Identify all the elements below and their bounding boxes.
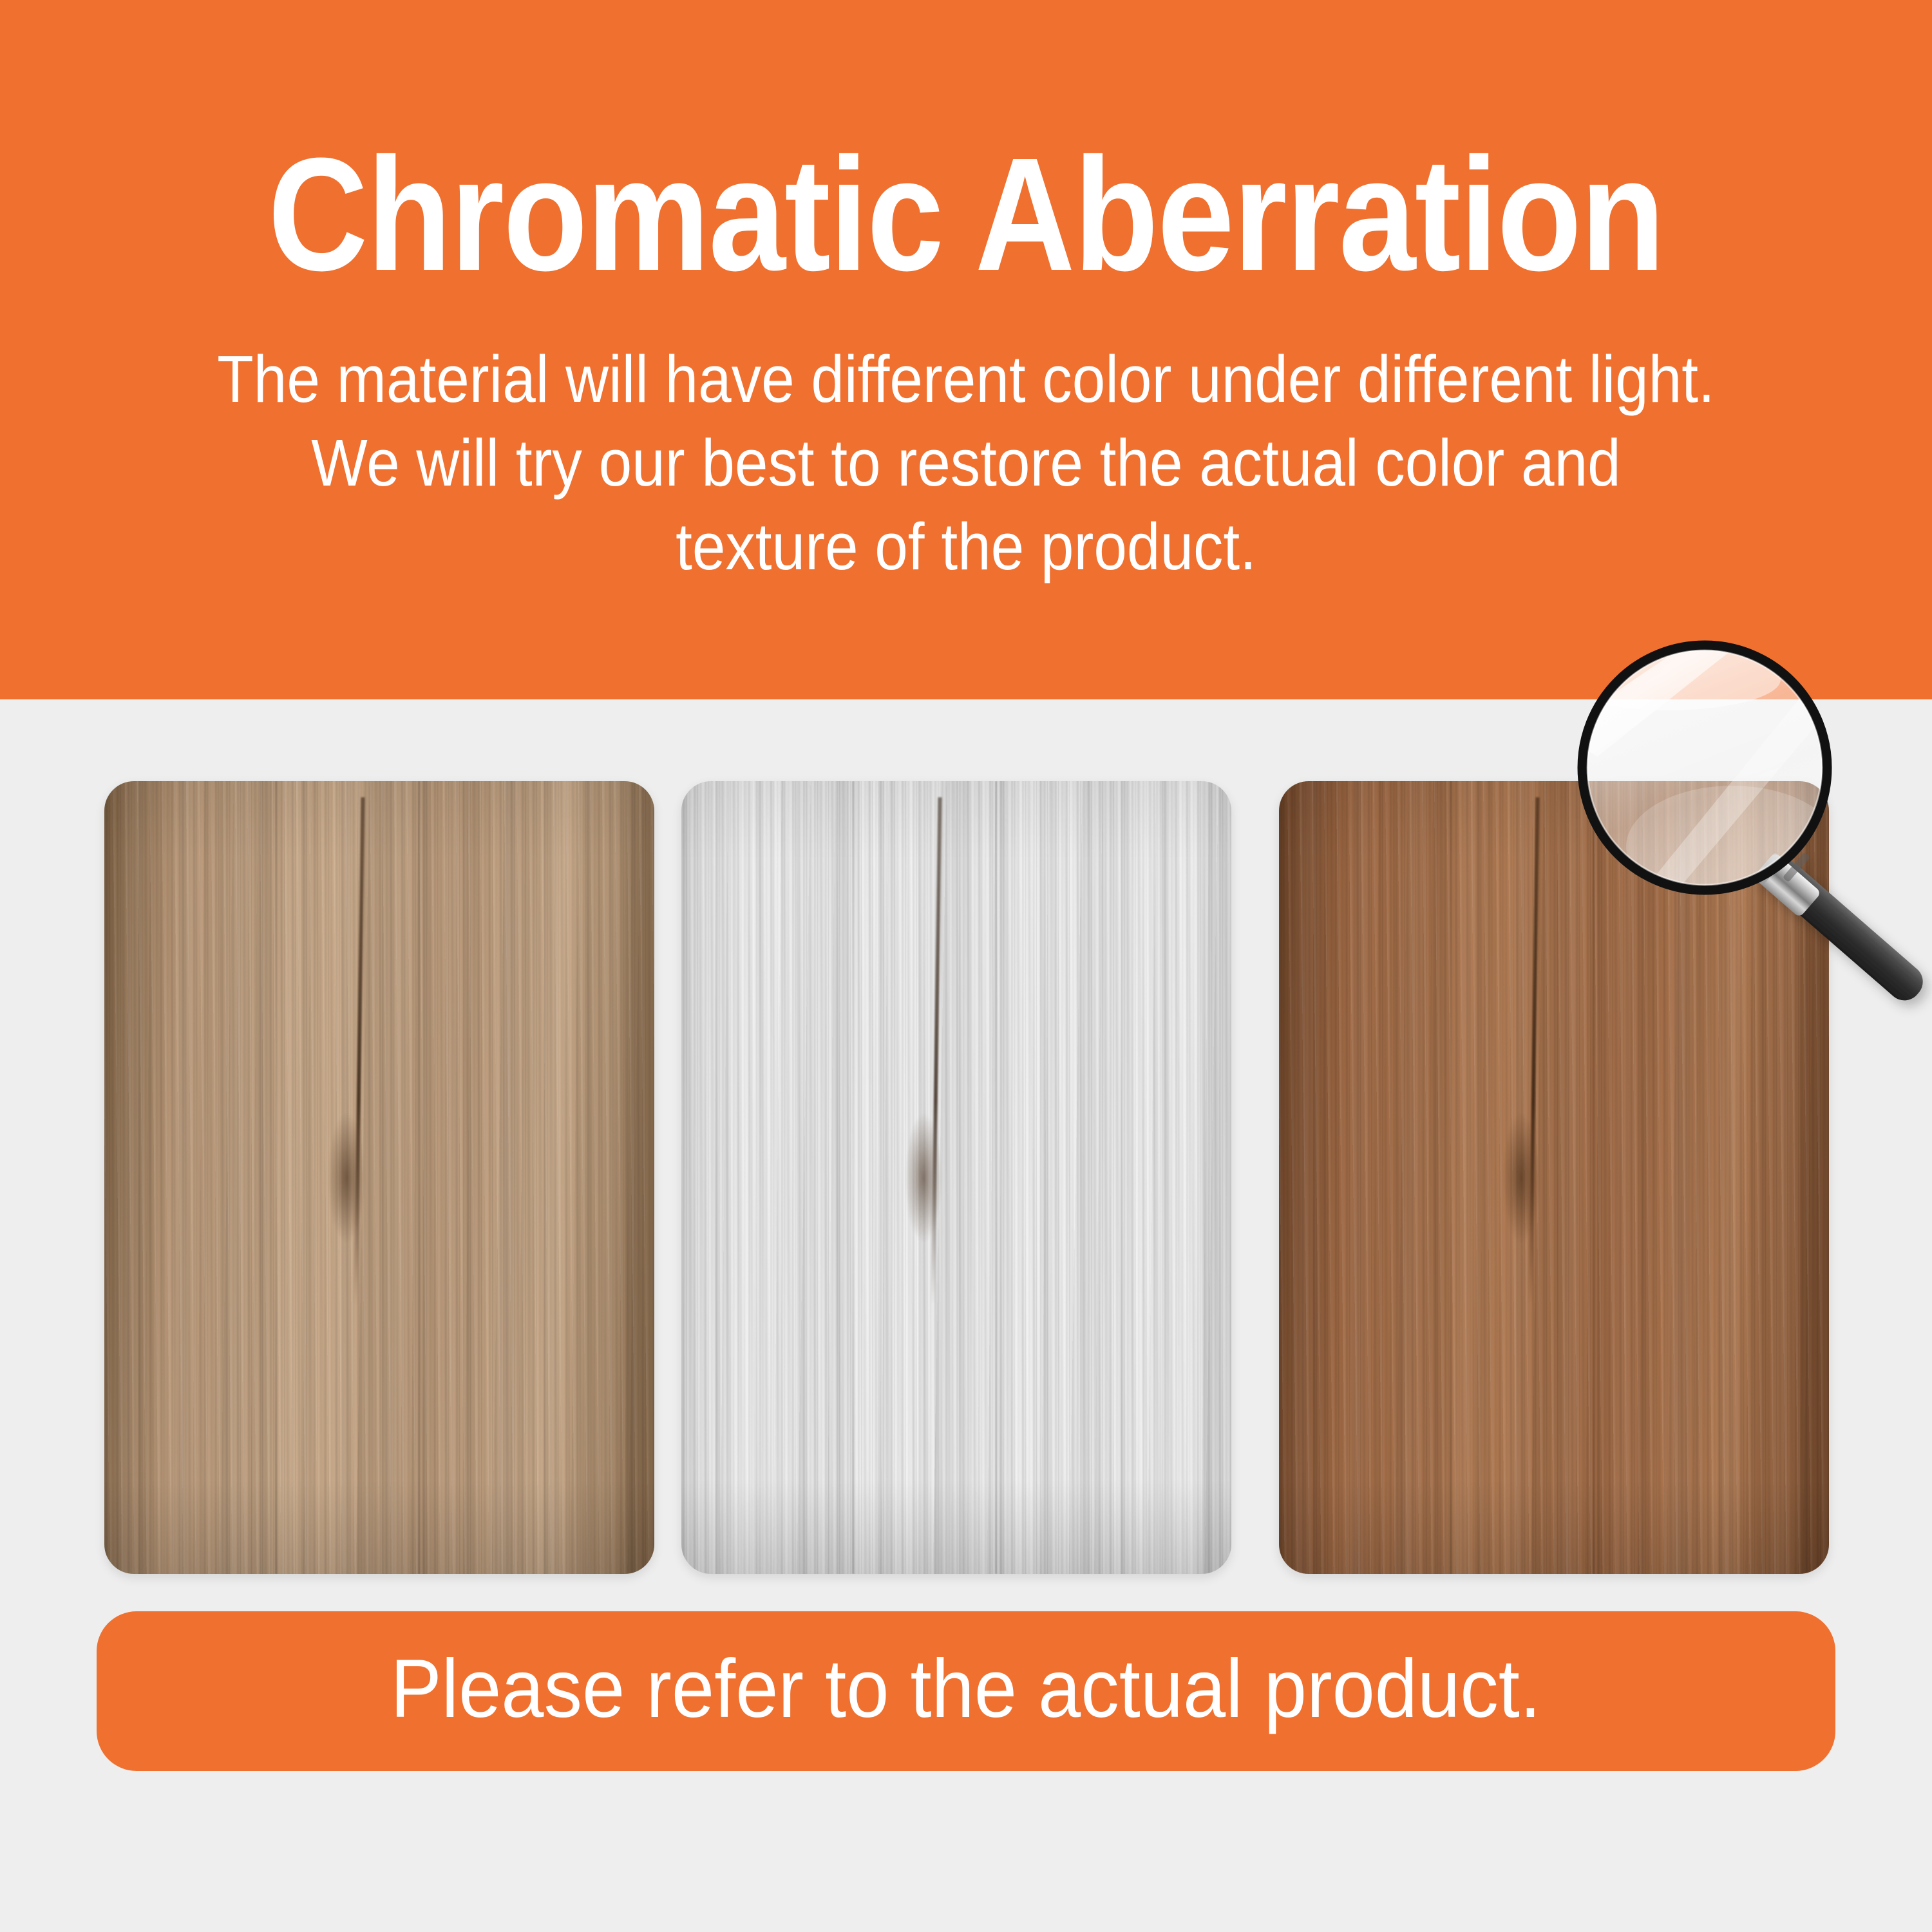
header-subtitle: The material will have different color u… xyxy=(97,337,1835,589)
magnifying-glass-icon xyxy=(1571,634,1932,1034)
swatch-card-light-oak[interactable] xyxy=(104,781,654,1574)
subtitle-line-1: The material will have different color u… xyxy=(97,337,1835,421)
swatch-card-dark-walnut[interactable] xyxy=(681,781,1231,1574)
header-band: Chromatic Aberration The material will h… xyxy=(0,0,1932,699)
footer-banner-text: Please refer to the actual product. xyxy=(391,1647,1542,1731)
subtitle-line-2: We will try our best to restore the actu… xyxy=(97,421,1835,505)
footer-banner: Please refer to the actual product. xyxy=(97,1611,1835,1771)
magnifier-handle xyxy=(1753,852,1930,1007)
page-title: Chromatic Aberration xyxy=(135,128,1797,301)
chromatic-aberration-infographic: Chromatic Aberration The material will h… xyxy=(0,0,1932,1932)
subtitle-line-3: texture of the product. xyxy=(97,505,1835,589)
